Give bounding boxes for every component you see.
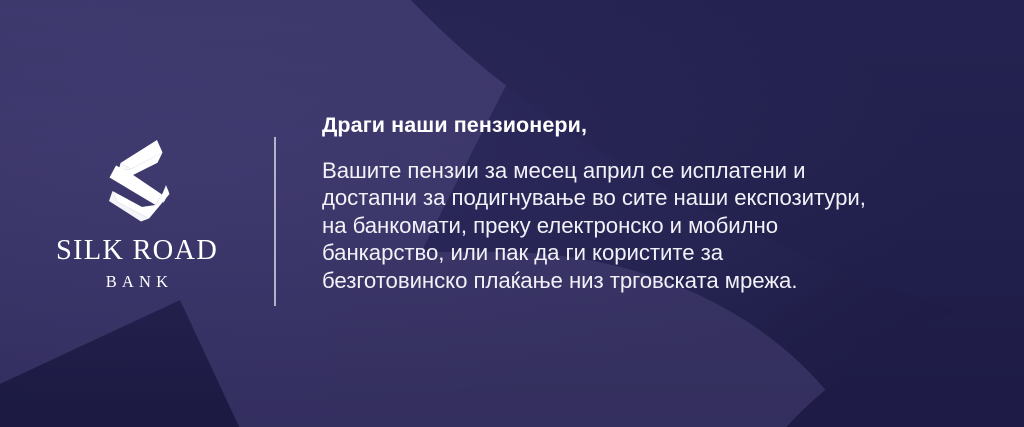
message-body-line: банкарство, или пак да ги користите за [322,239,982,266]
message-body-line: безготовинско плаќање низ трговската мре… [322,267,982,294]
vertical-divider [274,137,276,306]
message-body: Вашите пензии за месец април се исплатен… [322,157,982,294]
message-block: Драги наши пензионери, Вашите пензии за … [322,112,982,294]
message-body-line: Вашите пензии за месец април се исплатен… [322,157,982,184]
message-body-line: на банкомати, преку електронско и мобилн… [322,212,982,239]
silk-road-s-monogram-icon [100,137,174,223]
brand-wordmark: SILK ROAD [56,237,218,266]
message-body-line: достапни за подигнување во сите наши екс… [322,184,982,211]
banner-content: SILK ROAD BANK Драги наши пензионери, Ва… [0,0,1024,427]
brand-lockup: SILK ROAD BANK [0,0,274,427]
brand-subword: BANK [101,274,174,291]
message-headline: Драги наши пензионери, [322,112,982,139]
promotional-banner: SILK ROAD BANK Драги наши пензионери, Ва… [0,0,1024,427]
